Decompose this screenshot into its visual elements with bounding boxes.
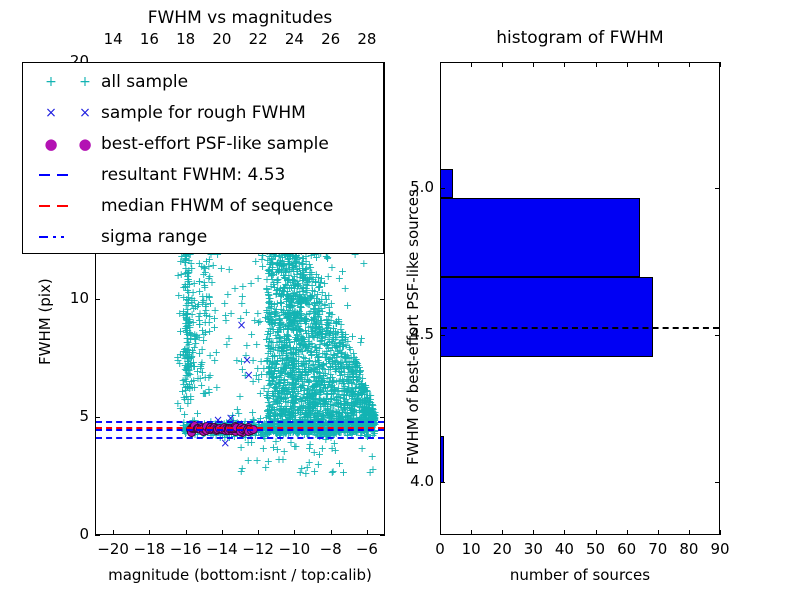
hist-x-tick-mark — [564, 530, 565, 535]
x-tick-mark — [367, 530, 368, 535]
reference-line-resultant-fwhm — [441, 327, 719, 329]
legend-row: ++all sample — [23, 67, 383, 97]
legend-label: sigma range — [101, 222, 207, 252]
legend-marker-circle: ● — [41, 129, 61, 159]
reference-line-median-fhwm — [96, 427, 384, 429]
histogram-xlabel: number of sources — [440, 566, 720, 584]
y-tick-label: 0 — [43, 525, 89, 543]
hist-y-tick-label: 4.0 — [388, 472, 434, 490]
x-tick-mark — [258, 530, 259, 535]
histogram-reference-lines — [441, 63, 719, 534]
left-panel-xlabel: magnitude (bottom:isnt / top:calib) — [95, 566, 385, 584]
hist-x-tick-mark — [658, 530, 659, 535]
right-panel-title: histogram of FWHM — [440, 28, 720, 48]
top-tick-label: 28 — [345, 30, 389, 48]
legend-line-dashdot — [53, 236, 56, 238]
legend-line-dashed — [39, 205, 50, 207]
legend-box: ++all sample××sample for rough FWHM●●bes… — [22, 62, 384, 254]
hist-x-tick-mark — [440, 530, 441, 535]
legend-line-dashed — [57, 174, 68, 176]
hist-x-tick-mark — [627, 62, 628, 67]
legend-line-dashed — [57, 205, 68, 207]
left-panel-title: FWHM vs magnitudes — [95, 8, 385, 28]
hist-x-tick-mark — [471, 530, 472, 535]
legend-label: median FHWM of sequence — [101, 191, 333, 221]
x-tick-mark — [186, 530, 187, 535]
hist-x-tick-mark — [596, 530, 597, 535]
hist-x-tick-mark — [471, 62, 472, 67]
y-tick-mark — [95, 417, 100, 418]
legend-line-dashdot — [61, 236, 64, 238]
hist-x-tick-mark — [627, 530, 628, 535]
legend-row: resultant FWHM: 4.53 — [23, 160, 383, 190]
hist-x-tick-mark — [720, 62, 721, 67]
bottom-tick-label: −6 — [345, 540, 389, 558]
y-tick-mark — [95, 535, 100, 536]
legend-marker-circle: ● — [75, 129, 95, 159]
hist-x-tick-mark — [689, 62, 690, 67]
histogram-ylabel: FWHM of best-effort PSF-like sources — [404, 189, 422, 465]
legend-row: ●●best-effort PSF-like sample — [23, 129, 383, 159]
legend-marker-plus: + — [75, 67, 95, 97]
hist-x-tick-mark — [502, 530, 503, 535]
legend-row: ××sample for rough FWHM — [23, 98, 383, 128]
legend-label: sample for rough FWHM — [101, 98, 306, 128]
x-tick-mark — [149, 530, 150, 535]
histogram-plot-area — [441, 63, 719, 534]
hist-x-tick-mark — [564, 62, 565, 67]
y-tick-mark — [380, 299, 385, 300]
hist-y-tick-mark — [440, 188, 445, 189]
x-tick-mark — [331, 530, 332, 535]
legend-line-dashed — [39, 174, 50, 176]
reference-line-sigma-upper — [96, 421, 384, 423]
legend-line-dashdot — [39, 236, 48, 238]
y-tick-label: 5 — [43, 407, 89, 425]
hist-x-tick-mark — [440, 62, 441, 67]
hist-x-tick-mark — [596, 62, 597, 67]
legend-row: sigma range — [23, 222, 383, 252]
legend-marker-plus: + — [41, 67, 61, 97]
hist-y-tick-mark — [440, 335, 445, 336]
hist-y-tick-mark — [715, 482, 720, 483]
reference-line-sigma-lower — [96, 437, 384, 439]
hist-x-tick-mark — [720, 530, 721, 535]
legend-marker-x: × — [75, 98, 95, 128]
x-tick-mark — [113, 530, 114, 535]
legend-label: resultant FWHM: 4.53 — [101, 160, 285, 190]
hist-x-tick-label: 90 — [698, 540, 742, 558]
hist-x-tick-mark — [689, 530, 690, 535]
left-panel-ylabel: FWHM (pix) — [36, 278, 54, 365]
hist-y-tick-mark — [440, 482, 445, 483]
hist-y-tick-mark — [715, 188, 720, 189]
figure-canvas: FWHM vs magnitudes 1416182022242628 −20−… — [0, 0, 800, 600]
legend-row: median FHWM of sequence — [23, 191, 383, 221]
hist-x-tick-mark — [658, 62, 659, 67]
hist-x-tick-mark — [502, 62, 503, 67]
hist-x-tick-mark — [533, 530, 534, 535]
y-tick-mark — [95, 299, 100, 300]
y-tick-mark — [380, 535, 385, 536]
x-tick-mark — [294, 530, 295, 535]
hist-y-tick-mark — [715, 335, 720, 336]
hist-x-tick-mark — [533, 62, 534, 67]
legend-label: all sample — [101, 67, 188, 97]
legend-marker-x: × — [41, 98, 61, 128]
legend-label: best-effort PSF-like sample — [101, 129, 329, 159]
x-tick-mark — [222, 530, 223, 535]
y-tick-mark — [380, 417, 385, 418]
